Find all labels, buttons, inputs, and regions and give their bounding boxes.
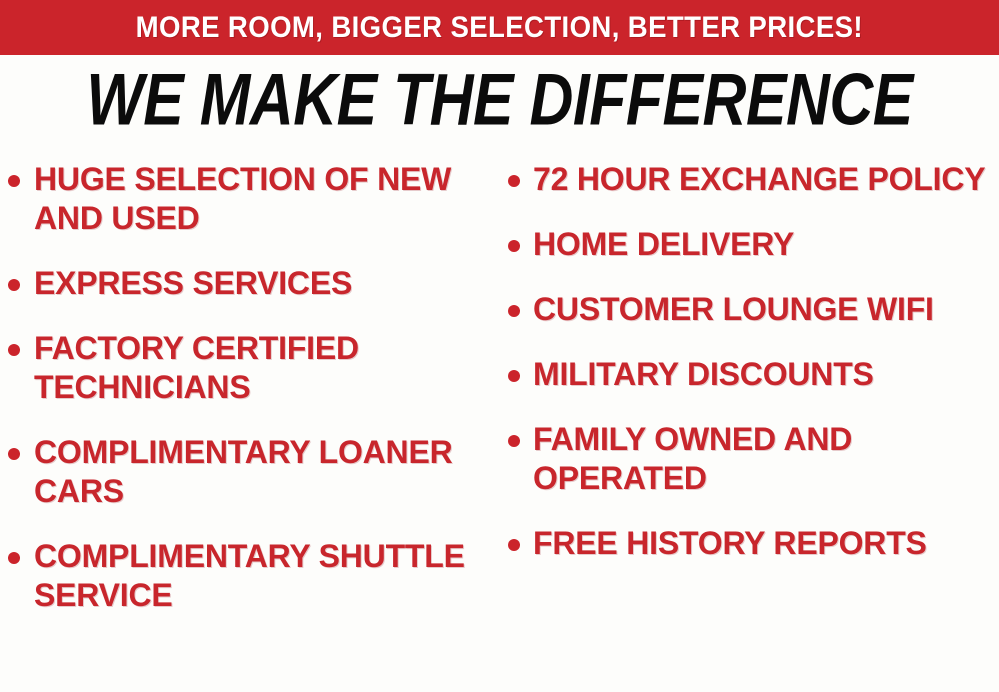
promo-banner: MORE ROOM, BIGGER SELECTION, BETTER PRIC… xyxy=(0,0,999,55)
page-title: WE MAKE THE DIFFERENCE xyxy=(86,62,912,139)
list-item: EXPRESS SERVICES xyxy=(8,264,500,303)
dot-icon xyxy=(8,552,20,564)
dot-icon xyxy=(508,435,520,447)
benefits-column-left: HUGE SELECTION OF NEW AND USED EXPRESS S… xyxy=(8,160,500,641)
list-item-label: CUSTOMER LOUNGE WIFI xyxy=(533,290,934,329)
list-item-label: EXPRESS SERVICES xyxy=(34,264,352,303)
list-item-label: HOME DELIVERY xyxy=(533,225,794,264)
list-item: COMPLIMENTARY SHUTTLE SERVICE xyxy=(8,537,500,615)
list-item-label: FAMILY OWNED AND OPERATED xyxy=(533,420,999,498)
headline-block: WE MAKE THE DIFFERENCE xyxy=(0,62,999,127)
list-item: CUSTOMER LOUNGE WIFI xyxy=(508,290,999,329)
list-item: FACTORY CERTIFIED TECHNICIANS xyxy=(8,329,500,407)
list-item-label: 72 HOUR EXCHANGE POLICY xyxy=(533,160,985,199)
list-item-label: FREE HISTORY REPORTS xyxy=(533,524,927,563)
promo-banner-text: MORE ROOM, BIGGER SELECTION, BETTER PRIC… xyxy=(136,13,863,43)
list-item: 72 HOUR EXCHANGE POLICY xyxy=(508,160,999,199)
dot-icon xyxy=(508,539,520,551)
dot-icon xyxy=(508,370,520,382)
benefits-column-right: 72 HOUR EXCHANGE POLICY HOME DELIVERY CU… xyxy=(508,160,999,589)
list-item-label: COMPLIMENTARY SHUTTLE SERVICE xyxy=(34,537,500,615)
dot-icon xyxy=(8,344,20,356)
dot-icon xyxy=(8,448,20,460)
dot-icon xyxy=(8,279,20,291)
list-item-label: FACTORY CERTIFIED TECHNICIANS xyxy=(34,329,500,407)
dot-icon xyxy=(508,240,520,252)
list-item: MILITARY DISCOUNTS xyxy=(508,355,999,394)
dot-icon xyxy=(8,175,20,187)
list-item: HUGE SELECTION OF NEW AND USED xyxy=(8,160,500,238)
list-item-label: COMPLIMENTARY LOANER CARS xyxy=(34,433,500,511)
benefits-columns: HUGE SELECTION OF NEW AND USED EXPRESS S… xyxy=(0,160,999,692)
list-item: FREE HISTORY REPORTS xyxy=(508,524,999,563)
list-item: FAMILY OWNED AND OPERATED xyxy=(508,420,999,498)
dot-icon xyxy=(508,305,520,317)
list-item: HOME DELIVERY xyxy=(508,225,999,264)
dot-icon xyxy=(508,175,520,187)
list-item-label: MILITARY DISCOUNTS xyxy=(533,355,874,394)
list-item: COMPLIMENTARY LOANER CARS xyxy=(8,433,500,511)
list-item-label: HUGE SELECTION OF NEW AND USED xyxy=(34,160,500,238)
